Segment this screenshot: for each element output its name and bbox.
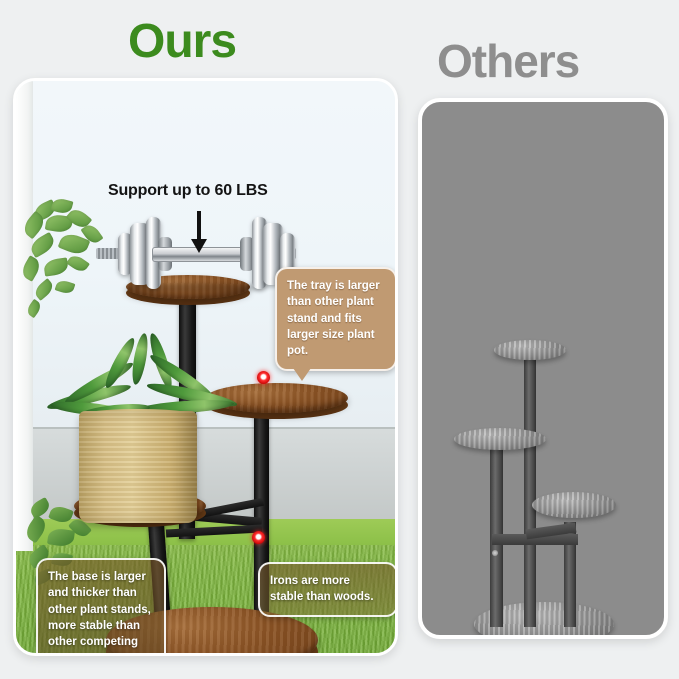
down-arrow-icon xyxy=(188,211,210,253)
comparison-graphic: Ours Others xyxy=(0,0,679,679)
others-heading: Others xyxy=(437,38,579,84)
callout-base: The base is larger and thicker than othe… xyxy=(36,558,166,656)
g-wooden-tray-middle xyxy=(454,428,546,450)
ours-heading: Ours xyxy=(128,18,236,66)
g-wooden-tray-top xyxy=(494,340,566,360)
g-screw xyxy=(492,550,498,556)
tray-marker-dot xyxy=(257,371,270,384)
iron-marker-dot xyxy=(252,531,265,544)
others-product-photo xyxy=(422,102,664,635)
others-panel xyxy=(418,98,668,639)
callout-base-text: The base is larger and thicker than othe… xyxy=(48,571,151,656)
callout-iron: Irons are more stable than woods. xyxy=(258,562,398,617)
ours-product-photo: Support up to 60 LBS The tray is larger … xyxy=(16,81,395,653)
callout-tray-tail xyxy=(293,368,311,381)
g-center-post xyxy=(524,354,536,627)
callout-iron-text: Irons are more stable than woods. xyxy=(270,575,374,603)
plant-pot xyxy=(79,411,197,523)
ours-panel: Support up to 60 LBS The tray is larger … xyxy=(13,78,398,656)
callout-tray: The tray is larger than other plant stan… xyxy=(275,267,397,371)
support-weight-label: Support up to 60 LBS xyxy=(108,182,268,200)
g-wooden-tray-lower xyxy=(532,492,616,518)
callout-tray-text: The tray is larger than other plant stan… xyxy=(287,280,380,357)
